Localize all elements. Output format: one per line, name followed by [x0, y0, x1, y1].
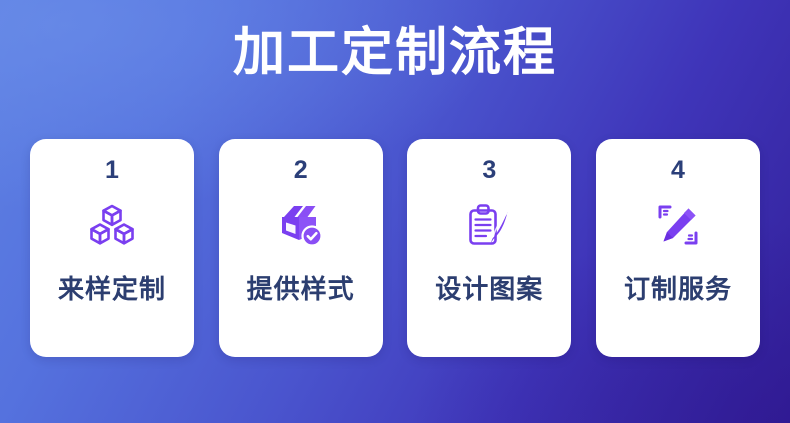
step-number: 3 — [482, 156, 496, 184]
step-number: 4 — [671, 156, 685, 184]
process-step-card-3[interactable]: 3 设计图案 — [407, 139, 571, 357]
pencil-ruler-icon — [649, 199, 707, 251]
clipboard-quill-icon — [460, 199, 518, 251]
step-label: 订制服务 — [624, 273, 732, 305]
process-steps-list: 1 来样定制 2 — [30, 139, 760, 357]
step-label: 设计图案 — [435, 273, 543, 305]
process-banner: 加工定制流程 1 — [0, 0, 790, 423]
process-step-card-1[interactable]: 1 来样定制 — [30, 139, 194, 357]
process-step-card-2[interactable]: 2 提供样式 — [219, 139, 383, 357]
cubes-stack-icon — [83, 199, 141, 251]
process-step-card-4[interactable]: 4 订制服务 — [596, 139, 760, 357]
step-number: 2 — [294, 156, 308, 184]
page-title: 加工定制流程 — [0, 22, 790, 84]
step-number: 1 — [105, 156, 119, 184]
box-check-icon — [272, 199, 330, 251]
step-label: 来样定制 — [58, 273, 166, 305]
step-label: 提供样式 — [247, 273, 355, 305]
